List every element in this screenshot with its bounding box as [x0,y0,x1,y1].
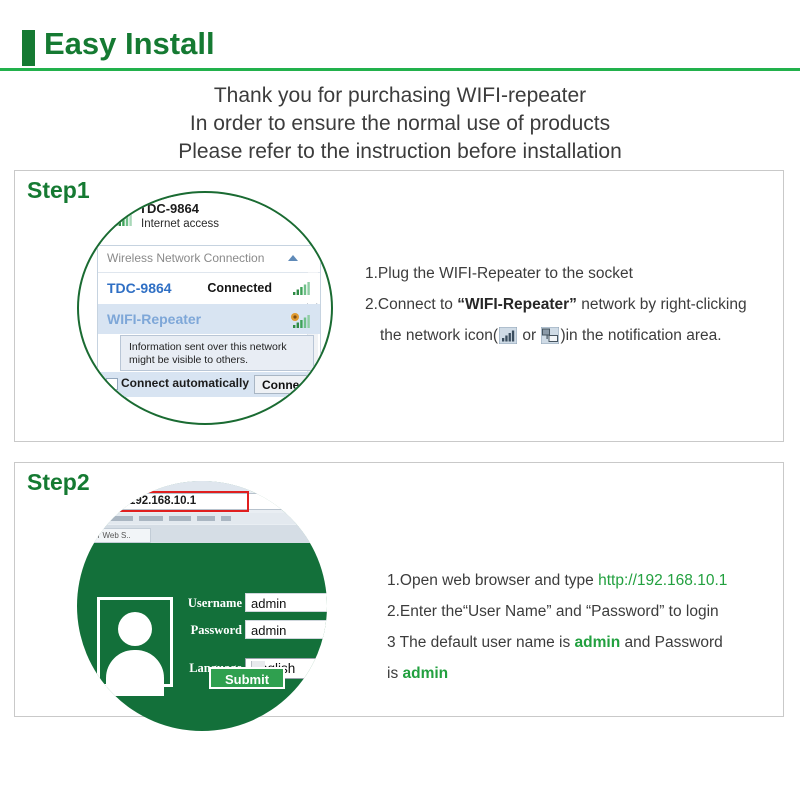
avatar-head [118,612,152,646]
connect-automatically-checkbox[interactable] [106,378,118,390]
intro-line-1: Thank you for purchasing WIFI-repeater [0,82,800,110]
instr-text: is [387,665,403,682]
connect-button-label: Connect [255,378,317,392]
browser-toolbar [77,513,327,524]
wifi-signal-icon [114,211,134,232]
network-name: TDC-9864 [107,280,172,296]
easy-install-page: Easy Install Thank you for purchasing WI… [0,0,800,800]
tooltip-subtitle: Internet access [141,218,219,230]
instr-text: and Password [620,634,723,651]
instr-text: 3 The default user name is [387,634,575,651]
user-avatar-icon [97,597,173,687]
browser-tab-label: eater Web S.. [82,531,131,540]
address-bar-highlight [117,491,249,512]
connect-button[interactable]: Connect [254,375,316,394]
step2-instruction-1: 1.Open web browser and type http://192.1… [387,568,787,594]
network-status: Connected [207,281,272,295]
connect-automatically-label: Connect automatically [121,376,249,390]
network-name: WIFI-Repeater [107,311,201,327]
instr-text: 2.Connect to [365,296,457,313]
network-computer-icon [541,327,559,353]
chevron-up-icon[interactable] [288,255,298,261]
step1-illustration-circle: TDC-9864 Internet access Wireless Networ… [77,191,333,425]
intro-line-2: In order to ensure the normal use of pro… [0,110,800,138]
step2-instructions: 1.Open web browser and type http://192.1… [387,568,787,692]
step1-instruction-2: 2.Connect to “WIFI-Repeater” network by … [365,292,785,318]
network-row-connected[interactable]: TDC-9864 Connected [98,273,320,303]
favicon-icon [99,496,109,506]
default-username: admin [575,634,621,651]
browser-chrome: 192.168.10.1 eater Web S.. [77,481,327,543]
password-input[interactable]: admin [245,620,327,639]
password-value: admin [251,623,286,638]
wifi-signal-icon [292,281,312,300]
wifi-tooltip: TDC-9864 Internet access [79,197,331,243]
instr-text: the network icon( [380,327,498,344]
header-accent-bar [22,30,35,66]
network-info-tooltip: Information sent over this network might… [120,335,314,371]
info-line-1: Information sent over this network [129,341,287,353]
password-label: Password [191,623,242,638]
avatar-body [106,650,164,696]
step2-panel: Step2 192.168.10.1 eater Web S.. [14,462,784,717]
password-row: Password admin [175,620,320,642]
router-url: http://192.168.10.1 [598,572,727,589]
username-input[interactable]: admin [245,593,327,612]
network-row-wifi-repeater[interactable]: WIFI-Repeater [98,304,320,334]
step1-instruction-1: 1.Plug the WIFI-Repeater to the socket [365,261,785,287]
browser-tab[interactable]: eater Web S.. [77,528,151,543]
info-line-2: might be visible to others. [129,354,248,366]
wireless-networks-panel: Wireless Network Connection TDC-9864 Con… [97,245,321,397]
panel-header-label: Wireless Network Connection [107,251,264,265]
panel-header: Wireless Network Connection [98,246,320,273]
instr-text: 1.Open web browser and type [387,572,598,589]
default-password: admin [403,665,449,682]
step2-illustration-circle: 192.168.10.1 eater Web S.. [77,481,327,731]
network-bars-icon [499,327,517,353]
step1-panel: Step1 TDC-9864 Internet access [14,170,784,442]
header-divider [0,68,800,71]
step2-instruction-3: 3 The default user name is admin and Pas… [387,630,787,656]
browser-tabbar: eater Web S.. [77,525,327,543]
submit-button[interactable]: Submit [209,667,285,689]
username-row: Username admin [175,593,320,615]
instr-text: )in the notification area. [560,327,721,344]
connect-automatically-row: Connect automatically Connect [98,372,320,397]
submit-button-label: Submit [211,672,283,687]
instr-text: network by right-clicking [577,296,747,313]
step1-instructions: 1.Plug the WIFI-Repeater to the socket 2… [365,261,785,358]
intro-line-3: Please refer to the instruction before i… [0,138,800,166]
instr-text: or [518,327,540,344]
intro-text: Thank you for purchasing WIFI-repeater I… [0,82,800,166]
username-label: Username [188,596,242,611]
step1-instruction-2-cont: the network icon( or )in the notificatio… [365,323,785,353]
instr-emphasis: “WIFI-Repeater” [457,296,577,313]
page-title: Easy Install [44,26,215,62]
step2-instruction-2: 2.Enter the“User Name” and “Password” to… [387,599,787,625]
page-header: Easy Install [0,22,800,74]
tooltip-ssid: TDC-9864 [139,201,199,216]
username-value: admin [251,596,286,611]
browser-title-placeholder [115,483,149,488]
wifi-signal-warning-icon [290,312,312,333]
step2-instruction-3-cont: is admin [387,661,787,687]
